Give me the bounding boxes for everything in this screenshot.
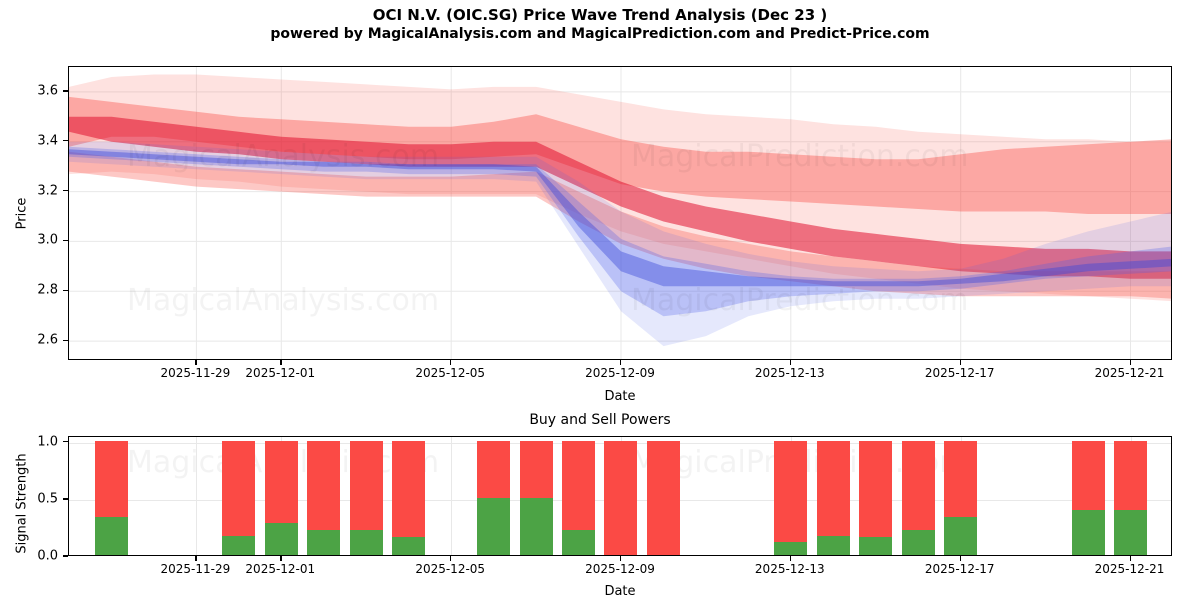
signal-bar[interactable]	[265, 441, 298, 555]
page-subtitle: powered by MagicalAnalysis.com and Magic…	[0, 25, 1200, 43]
signal-bar[interactable]	[392, 441, 425, 555]
signal-bar[interactable]	[859, 441, 892, 555]
price-xtick-label: 2025-12-13	[755, 366, 825, 380]
signal-xtick-mark	[195, 556, 196, 561]
price-plot-area: MagicalAnalysis.com MagicalPrediction.co…	[68, 66, 1172, 360]
sell-power-segment	[307, 441, 340, 530]
signal-bar[interactable]	[95, 441, 128, 555]
buy-power-segment	[307, 530, 340, 555]
signal-gridline	[196, 437, 197, 555]
signal-bar[interactable]	[944, 441, 977, 555]
price-xtick-mark	[620, 360, 621, 365]
price-y-axis-title: Price	[15, 184, 30, 244]
signal-xtick-label: 2025-12-09	[585, 562, 655, 576]
sell-power-segment	[562, 441, 595, 530]
signal-xtick-mark	[960, 556, 961, 561]
buy-power-segment	[817, 536, 850, 555]
price-xtick-mark	[280, 360, 281, 365]
page-title: OCI N.V. (OIC.SG) Price Wave Trend Analy…	[0, 6, 1200, 25]
price-ytick-label: 3.6	[0, 83, 58, 98]
price-ytick-mark	[63, 140, 68, 141]
price-ytick-label: 2.8	[0, 283, 58, 298]
price-x-axis-title: Date	[68, 389, 1172, 404]
buy-power-segment	[902, 530, 935, 555]
buy-power-segment	[562, 530, 595, 555]
price-ytick-mark	[63, 90, 68, 91]
price-bands	[69, 75, 1172, 347]
sell-power-segment	[604, 441, 637, 555]
signal-bar[interactable]	[902, 441, 935, 555]
price-band-svg	[69, 67, 1172, 360]
signal-ytick-mark	[63, 555, 68, 556]
signal-xtick-mark	[280, 556, 281, 561]
buy-power-segment	[774, 542, 807, 555]
price-xtick-mark	[790, 360, 791, 365]
signal-bar[interactable]	[350, 441, 383, 555]
figure-title-block: OCI N.V. (OIC.SG) Price Wave Trend Analy…	[0, 6, 1200, 43]
signal-bar[interactable]	[520, 441, 553, 555]
signal-xtick-label: 2025-12-21	[1095, 562, 1165, 576]
signal-xtick-label: 2025-12-13	[755, 562, 825, 576]
sell-power-segment	[647, 441, 680, 555]
signal-bar[interactable]	[1114, 441, 1147, 555]
signal-bar[interactable]	[562, 441, 595, 555]
price-xtick-mark	[450, 360, 451, 365]
signal-ytick-mark	[63, 441, 68, 442]
sell-power-segment	[392, 441, 425, 537]
sell-power-segment	[1072, 441, 1105, 511]
signal-bar[interactable]	[477, 441, 510, 555]
signal-xtick-mark	[790, 556, 791, 561]
price-xtick-mark	[960, 360, 961, 365]
signal-bar[interactable]	[1072, 441, 1105, 555]
sell-power-segment	[520, 441, 553, 498]
buy-power-segment	[392, 537, 425, 555]
sell-power-segment	[859, 441, 892, 537]
signal-chart-panel: Buy and Sell Powers MagicalAnalysis.com …	[0, 412, 1200, 600]
sell-power-segment	[350, 441, 383, 530]
price-ytick-mark	[63, 290, 68, 291]
sell-power-segment	[265, 441, 298, 523]
signal-xtick-mark	[450, 556, 451, 561]
buy-power-segment	[520, 498, 553, 555]
signal-xtick-label: 2025-12-17	[925, 562, 995, 576]
buy-power-segment	[1072, 510, 1105, 555]
figure-root: OCI N.V. (OIC.SG) Price Wave Trend Analy…	[0, 0, 1200, 600]
signal-plot-area: MagicalAnalysis.com MagicalPrediction.co…	[68, 436, 1172, 556]
signal-bar[interactable]	[604, 441, 637, 555]
sell-power-segment	[817, 441, 850, 536]
buy-power-segment	[350, 530, 383, 555]
sell-power-segment	[222, 441, 255, 536]
price-ytick-label: 3.4	[0, 133, 58, 148]
signal-xtick-mark	[620, 556, 621, 561]
price-xtick-label: 2025-12-01	[245, 366, 315, 380]
price-xtick-label: 2025-12-05	[415, 366, 485, 380]
price-ytick-mark	[63, 240, 68, 241]
buy-power-segment	[222, 536, 255, 555]
signal-x-axis-title: Date	[68, 584, 1172, 599]
signal-bar[interactable]	[307, 441, 340, 555]
sell-power-segment	[477, 441, 510, 498]
signal-bar[interactable]	[647, 441, 680, 555]
signal-xtick-mark	[1130, 556, 1131, 561]
signal-gridline	[451, 437, 452, 555]
price-ytick-mark	[63, 340, 68, 341]
buy-power-segment	[944, 517, 977, 555]
signal-ytick-mark	[63, 498, 68, 499]
signal-xtick-label: 2025-12-01	[245, 562, 315, 576]
signal-chart-title: Buy and Sell Powers	[0, 412, 1200, 428]
sell-power-segment	[944, 441, 977, 518]
price-ytick-mark	[63, 190, 68, 191]
buy-power-segment	[95, 517, 128, 555]
sell-power-segment	[95, 441, 128, 518]
price-xtick-label: 2025-12-09	[585, 366, 655, 380]
signal-bar[interactable]	[222, 441, 255, 555]
price-xtick-label: 2025-11-29	[161, 366, 231, 380]
signal-xtick-label: 2025-12-05	[415, 562, 485, 576]
price-xtick-mark	[1130, 360, 1131, 365]
signal-bar[interactable]	[774, 441, 807, 555]
price-xtick-mark	[195, 360, 196, 365]
buy-power-segment	[859, 537, 892, 555]
buy-power-segment	[265, 523, 298, 555]
signal-y-axis-title: Signal Strength	[15, 444, 30, 564]
signal-xtick-label: 2025-11-29	[161, 562, 231, 576]
buy-power-segment	[1114, 510, 1147, 555]
price-xtick-label: 2025-12-17	[925, 366, 995, 380]
price-chart-panel: MagicalAnalysis.com MagicalPrediction.co…	[0, 56, 1200, 406]
signal-bar[interactable]	[817, 441, 850, 555]
buy-power-segment	[477, 498, 510, 555]
sell-power-segment	[1114, 441, 1147, 511]
price-ytick-label: 2.6	[0, 333, 58, 348]
sell-power-segment	[902, 441, 935, 530]
sell-power-segment	[774, 441, 807, 543]
price-xtick-label: 2025-12-21	[1095, 366, 1165, 380]
